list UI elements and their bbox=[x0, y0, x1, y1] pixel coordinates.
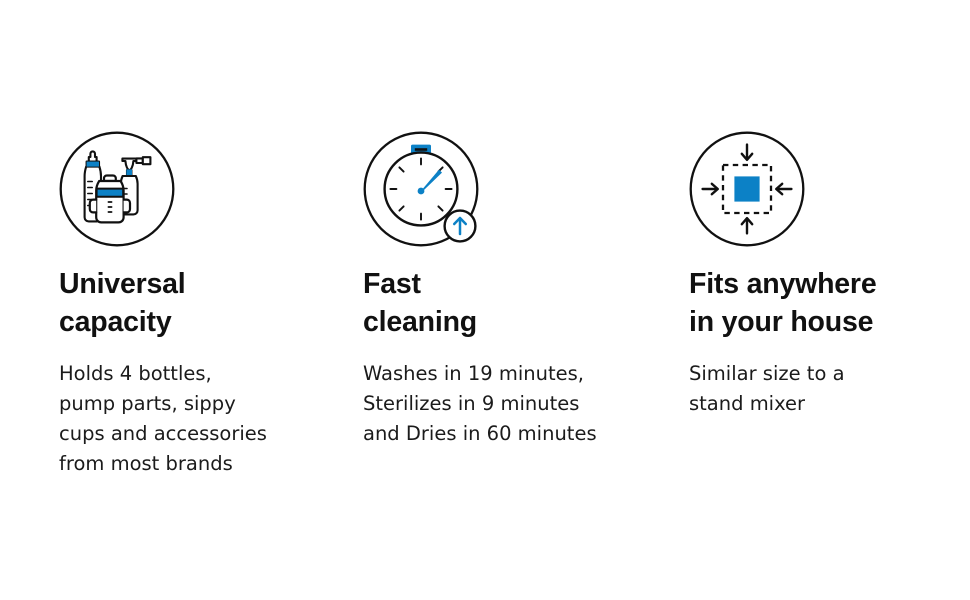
feature-title: Universal capacity bbox=[59, 265, 327, 341]
stopwatch-icon bbox=[363, 131, 479, 247]
feature-highlights-section: Universal capacity Holds 4 bottles, pump… bbox=[0, 0, 970, 600]
feature-title: Fast cleaning bbox=[363, 265, 653, 341]
feature-card-universal-capacity: Universal capacity Holds 4 bottles, pump… bbox=[59, 131, 327, 479]
baby-bottles-icon bbox=[59, 131, 175, 247]
feature-card-fits-anywhere: Fits anywhere in your house Similar size… bbox=[689, 131, 939, 419]
feature-description: Holds 4 bottles, pump parts, sippy cups … bbox=[59, 359, 327, 479]
feature-description: Similar size to a stand mixer bbox=[689, 359, 939, 419]
feature-card-fast-cleaning: Fast cleaning Washes in 19 minutes, Ster… bbox=[363, 131, 653, 449]
fits-anywhere-icon bbox=[689, 131, 805, 247]
feature-title: Fits anywhere in your house bbox=[689, 265, 939, 341]
feature-description: Washes in 19 minutes, Sterilizes in 9 mi… bbox=[363, 359, 653, 449]
